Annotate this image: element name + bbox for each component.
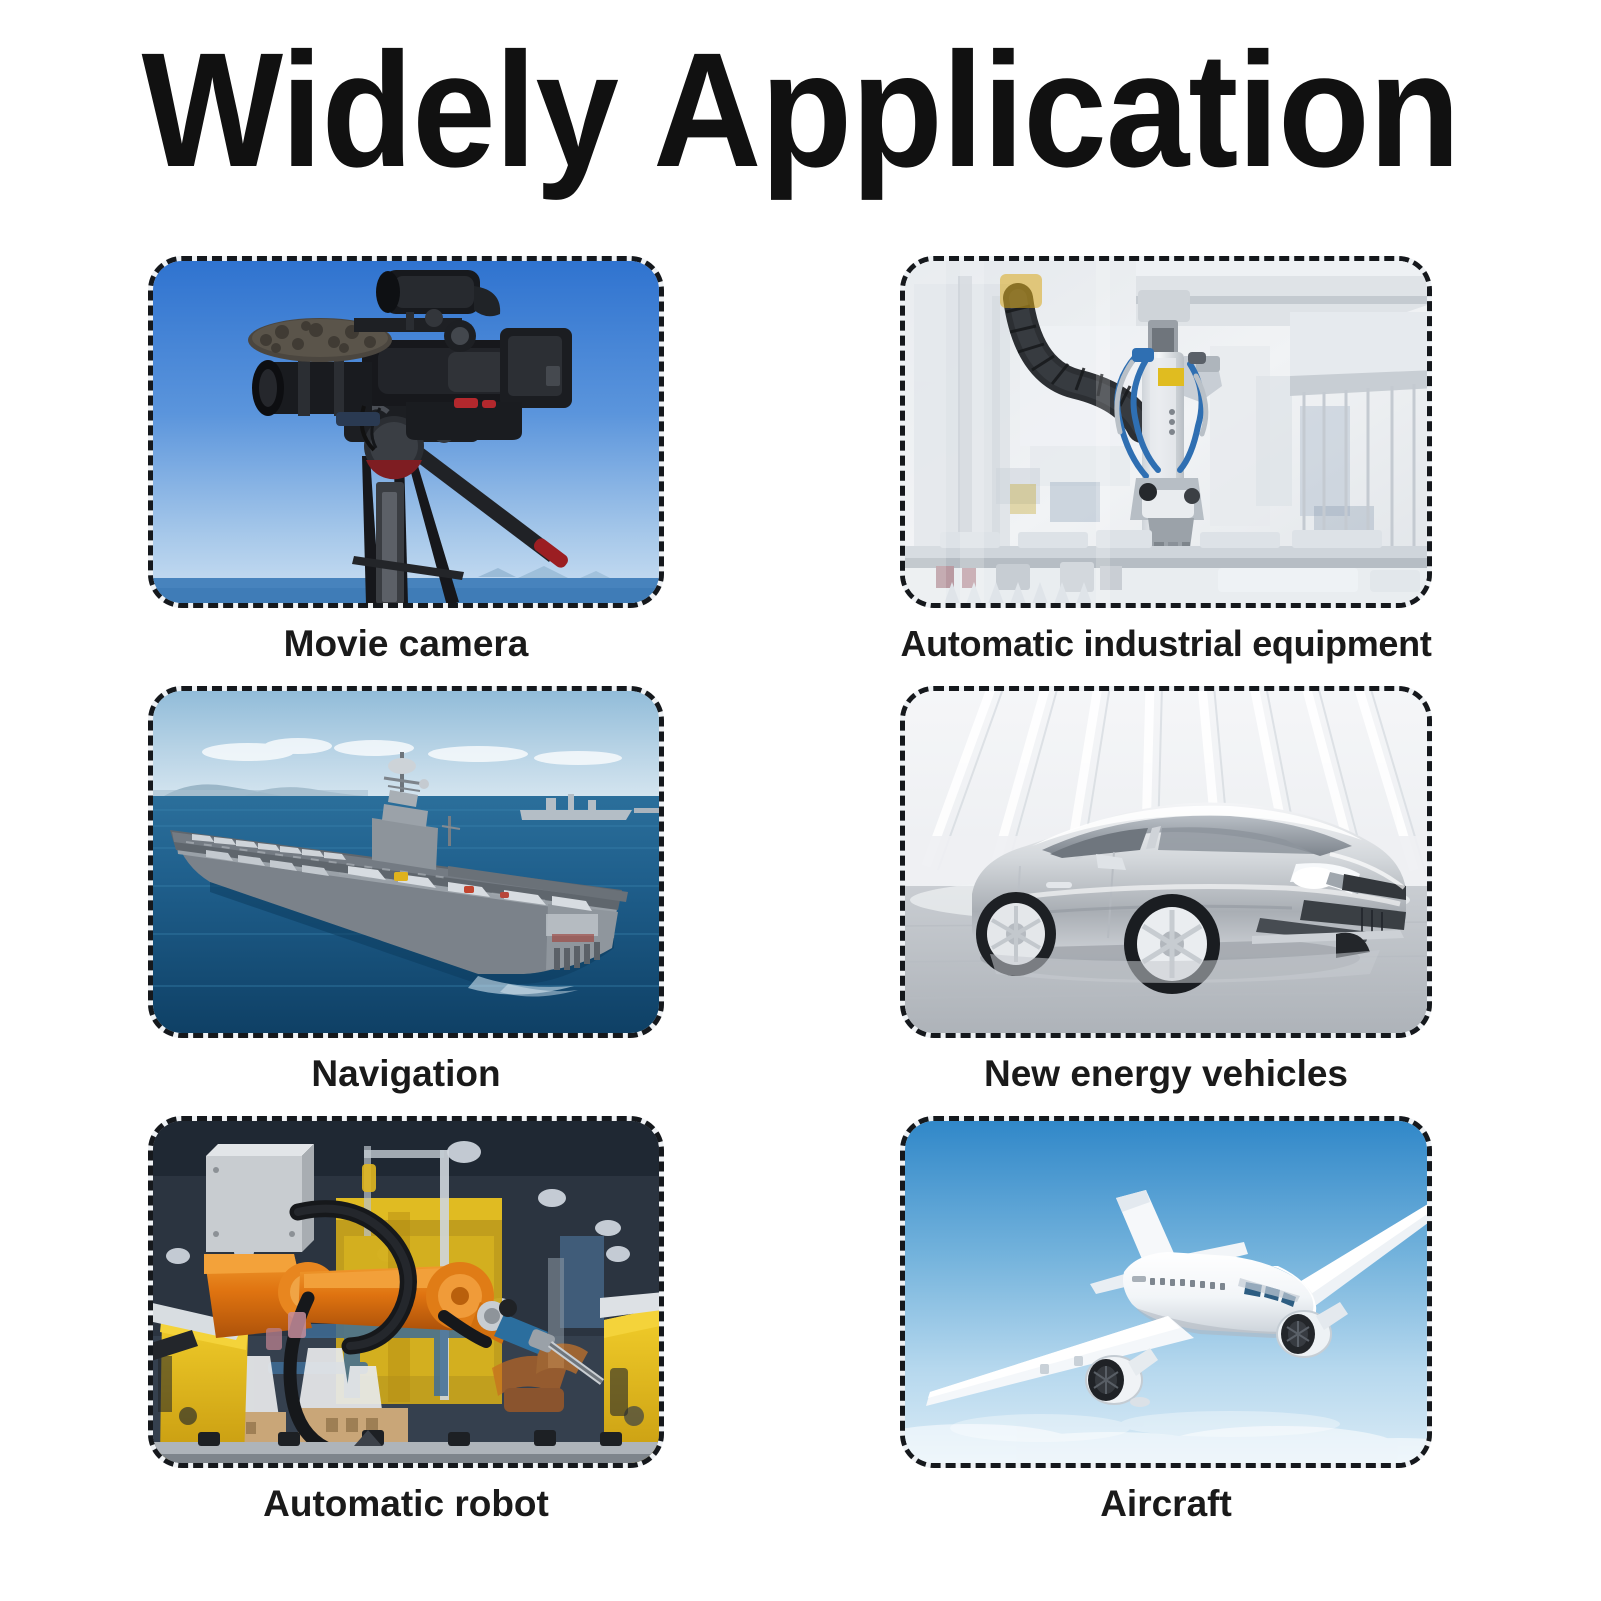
photo-navigation xyxy=(148,686,664,1038)
photo-industrial-equipment xyxy=(900,256,1432,608)
movie-camera-illustration xyxy=(148,256,664,608)
photo-frame xyxy=(148,686,664,1038)
welding-robot-illustration xyxy=(148,1116,664,1468)
application-grid: Movie camera xyxy=(0,256,1601,1546)
card-automatic-industrial-equipment[interactable]: Automatic industrial equipment xyxy=(900,256,1436,664)
grid-row: Navigation xyxy=(0,686,1601,1116)
airliner-illustration xyxy=(900,1116,1432,1468)
grid-row: Automatic robot xyxy=(0,1116,1601,1546)
card-caption: Aircraft xyxy=(900,1484,1432,1525)
card-automatic-robot[interactable]: Automatic robot xyxy=(148,1116,684,1525)
industrial-equipment-illustration xyxy=(900,256,1432,608)
photo-frame xyxy=(900,256,1432,608)
photo-frame xyxy=(148,256,664,608)
photo-frame xyxy=(900,686,1432,1038)
photo-new-energy-vehicle xyxy=(900,686,1432,1038)
application-poster: Widely Application xyxy=(0,0,1601,1601)
page-title: Widely Application xyxy=(64,28,1537,191)
card-navigation[interactable]: Navigation xyxy=(148,686,684,1095)
card-caption: Navigation xyxy=(148,1054,664,1095)
card-caption: New energy vehicles xyxy=(900,1054,1432,1095)
photo-frame xyxy=(900,1116,1432,1468)
card-caption: Automatic industrial equipment xyxy=(900,624,1432,664)
aircraft-carrier-illustration xyxy=(148,686,664,1038)
photo-frame xyxy=(148,1116,664,1468)
card-new-energy-vehicles[interactable]: New energy vehicles xyxy=(900,686,1436,1095)
grid-row: Movie camera xyxy=(0,256,1601,686)
electric-car-illustration xyxy=(900,686,1432,1038)
card-movie-camera[interactable]: Movie camera xyxy=(148,256,684,665)
card-caption: Movie camera xyxy=(148,624,664,665)
photo-automatic-robot xyxy=(148,1116,664,1468)
photo-movie-camera xyxy=(148,256,664,608)
photo-aircraft xyxy=(900,1116,1432,1468)
card-caption: Automatic robot xyxy=(148,1484,664,1525)
card-aircraft[interactable]: Aircraft xyxy=(900,1116,1436,1525)
